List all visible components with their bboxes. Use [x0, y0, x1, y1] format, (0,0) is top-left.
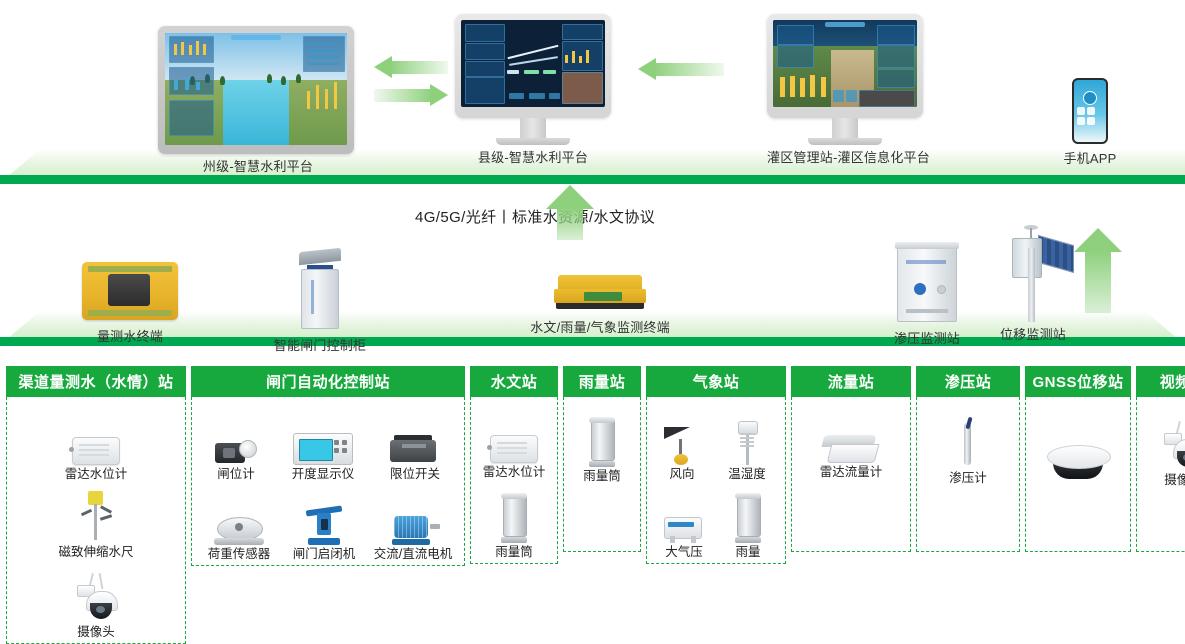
imac-monitor-county: [455, 14, 611, 145]
station-item-radar-level[interactable]: 雷达水位计: [475, 403, 553, 479]
node-label: 位移监测站: [968, 324, 1098, 343]
station-card-gnss-displacement[interactable]: GNSS位移站: [1025, 366, 1131, 552]
opening-display-icon: [293, 433, 353, 465]
monitor-neck: [832, 118, 858, 138]
item-label: 开度显示仪: [292, 467, 355, 481]
station-title: 流量站: [791, 366, 911, 397]
item-label: 闸门启闭机: [293, 547, 356, 561]
station-title: 渗压站: [916, 366, 1020, 397]
load-cell-icon: [214, 513, 264, 545]
station-item-magnetostrictive[interactable]: 磁致伸缩水尺: [52, 481, 140, 559]
station-card-canal-water-measure[interactable]: 渠道量测水（水情）站 雷达水位计 磁致伸缩水尺: [6, 366, 186, 552]
station-body: 摄像头: [1136, 397, 1185, 552]
station-card-rainfall[interactable]: 雨量站 雨量筒: [563, 366, 641, 552]
node-hydro-weather-terminal[interactable]: 水文/雨量/气象监测终端: [490, 275, 710, 336]
arrow-county-irrigation-left: [638, 58, 724, 81]
station-body: 风向 温湿度 大气压 雨量: [646, 397, 786, 564]
rain-gauge-icon: [499, 493, 529, 543]
architecture-diagram: 州级-智慧水利平台: [0, 0, 1185, 556]
radar-level-gauge-icon: [490, 435, 538, 463]
item-label: 雨量: [735, 545, 760, 559]
imac-monitor-irrigation: [767, 14, 923, 145]
node-label: 州级-智慧水利平台: [158, 156, 358, 175]
monitor-screen: [165, 33, 347, 145]
dashboard-art-county: [461, 20, 605, 107]
dashboard-art-canal-3d: [165, 33, 347, 145]
item-label: 限位开关: [390, 467, 440, 481]
barometer-icon: [662, 515, 706, 543]
item-label: 雷达水位计: [483, 465, 546, 479]
radar-level-gauge-icon: [72, 437, 120, 465]
wide-monitor: [158, 26, 358, 154]
app-icons: [1077, 107, 1103, 125]
temp-humidity-icon: [732, 421, 762, 465]
monitor-neck: [520, 118, 546, 138]
gate-hoist-icon: [304, 505, 344, 545]
node-displacement-monitor-station[interactable]: 位移监测站: [968, 222, 1098, 343]
node-water-measure-terminal[interactable]: 量测水终端: [60, 262, 200, 345]
station-item-radar-flow-meter[interactable]: 雷达流量计: [796, 403, 906, 479]
piezometer-icon: [955, 417, 981, 469]
phone-screen: [1074, 80, 1106, 142]
arrow-prefecture-left: [374, 56, 448, 79]
monitor-bezel: [158, 26, 354, 154]
station-item-rain-gauge[interactable]: 雨量: [716, 481, 780, 559]
node-label: 智能闸门控制柜: [240, 335, 400, 354]
node-label: 量测水终端: [60, 326, 200, 345]
monitor-foot: [496, 138, 570, 145]
gnss-antenna-icon: [1047, 443, 1109, 479]
gate-position-sensor-icon: [215, 437, 257, 465]
station-item-gate-hoist[interactable]: 闸门启闭机: [282, 481, 366, 561]
limit-switch-icon: [390, 435, 440, 465]
item-label: 雨量筒: [495, 545, 533, 559]
station-card-gate-automation[interactable]: 闸门自动化控制站 闸位计 开度显示仪: [191, 366, 465, 552]
node-label: 水文/雨量/气象监测终端: [490, 317, 710, 336]
station-body: 雨量筒: [563, 397, 641, 552]
uplink-arrow-center: [510, 185, 630, 240]
station-card-row: 渠道量测水（水情）站 雷达水位计 磁致伸缩水尺: [6, 366, 1185, 552]
station-item-temp-humidity[interactable]: 温湿度: [713, 403, 781, 481]
station-item-opening-display[interactable]: 开度显示仪: [276, 403, 370, 481]
station-title: 视频站: [1136, 366, 1185, 397]
globe-icon: [1083, 91, 1097, 105]
station-item-ac-dc-motor[interactable]: 交流/直流电机: [366, 481, 460, 561]
station-title: GNSS位移站: [1025, 366, 1131, 397]
station-item-rain-gauge[interactable]: 雨量筒: [568, 403, 636, 483]
station-title: 闸门自动化控制站: [191, 366, 465, 397]
monitor-bezel: [455, 14, 611, 118]
field-cabinet-icon: [897, 246, 957, 322]
camera-icon: [1161, 421, 1185, 471]
node-mobile-app[interactable]: 手机APP: [1030, 78, 1150, 167]
node-prefecture-platform[interactable]: 州级-智慧水利平台: [158, 26, 358, 175]
platform-front-face: [0, 175, 1185, 184]
radar-flow-meter-icon: [823, 433, 879, 463]
station-item-camera[interactable]: 摄像头: [11, 559, 181, 639]
node-county-platform[interactable]: 县级-智慧水利平台: [455, 14, 611, 166]
station-title: 雨量站: [563, 366, 641, 397]
station-item-gnss-antenna[interactable]: [1030, 403, 1126, 481]
node-label: 手机APP: [1030, 148, 1150, 167]
node-smart-gate-cabinet[interactable]: 智能闸门控制柜: [240, 250, 400, 354]
station-card-hydrology[interactable]: 水文站 雷达水位计 雨量筒: [470, 366, 558, 552]
station-body: 闸位计 开度显示仪 限位开关: [191, 397, 465, 566]
rtu-terminal-icon: [82, 262, 178, 320]
monitor-foot: [808, 138, 882, 145]
item-label: 温湿度: [728, 467, 766, 481]
station-card-flow[interactable]: 流量站 雷达流量计: [791, 366, 911, 552]
item-label: 闸位计: [217, 467, 255, 481]
station-body: [1025, 397, 1131, 552]
station-title: 气象站: [646, 366, 786, 397]
dashboard-art-irrigation: [773, 20, 917, 107]
magnetostrictive-gauge-icon: [79, 491, 113, 543]
station-item-limit-switch[interactable]: 限位开关: [370, 403, 460, 481]
station-item-barometer[interactable]: 大气压: [652, 481, 716, 559]
node-irrigation-platform[interactable]: 灌区管理站-灌区信息化平台: [767, 14, 923, 166]
rain-gauge-icon: [587, 417, 617, 467]
station-body: 雷达水位计 雨量筒: [470, 397, 558, 564]
station-card-seepage[interactable]: 渗压站 渗压计: [916, 366, 1020, 552]
item-label: 摄像头: [77, 625, 115, 639]
dtu-terminal-icon: [554, 275, 646, 309]
station-item-rain-gauge[interactable]: 雨量筒: [475, 479, 553, 559]
camera-icon: [74, 573, 118, 623]
solar-pole-station-icon: [994, 222, 1072, 322]
monitor-bezel: [767, 14, 923, 118]
item-label: 雨量筒: [583, 469, 621, 483]
station-item-piezometer[interactable]: 渗压计: [921, 403, 1015, 485]
item-label: 雷达水位计: [65, 467, 128, 481]
item-label: 大气压: [665, 545, 703, 559]
node-label: 县级-智慧水利平台: [455, 147, 611, 166]
station-body: 雷达流量计: [791, 397, 911, 552]
smartphone-icon: [1072, 78, 1108, 144]
wind-vane-icon: [662, 425, 702, 465]
station-item-wind-vane[interactable]: 风向: [651, 403, 713, 481]
monitor-screen: [773, 20, 917, 107]
station-item-radar-level[interactable]: 雷达水位计: [54, 403, 138, 481]
item-label: 渗压计: [949, 471, 987, 485]
control-cabinet-icon: [299, 250, 341, 329]
node-label: 灌区管理站-灌区信息化平台: [767, 147, 923, 166]
monitor-screen: [461, 20, 605, 107]
item-label: 交流/直流电机: [374, 547, 452, 561]
station-card-weather[interactable]: 气象站 风向 温湿度: [646, 366, 786, 552]
rain-gauge-icon: [733, 493, 763, 543]
station-body: 渗压计: [916, 397, 1020, 552]
arrow-county-right: [374, 84, 448, 107]
ac-dc-motor-icon: [386, 513, 440, 545]
station-title: 渠道量测水（水情）站: [6, 366, 186, 397]
item-label: 雷达流量计: [820, 465, 883, 479]
item-label: 磁致伸缩水尺: [58, 545, 133, 559]
station-card-video[interactable]: 视频站 摄像头: [1136, 366, 1185, 552]
station-item-camera[interactable]: 摄像头: [1141, 403, 1185, 487]
station-item-gate-position[interactable]: 闸位计: [196, 403, 276, 481]
station-title: 水文站: [470, 366, 558, 397]
item-label: 风向: [669, 467, 694, 481]
item-label: 摄像头: [1164, 473, 1185, 487]
station-body: 雷达水位计 磁致伸缩水尺 摄像头: [6, 397, 186, 644]
item-label: 荷重传感器: [208, 547, 271, 561]
station-item-load-cell[interactable]: 荷重传感器: [196, 481, 282, 561]
